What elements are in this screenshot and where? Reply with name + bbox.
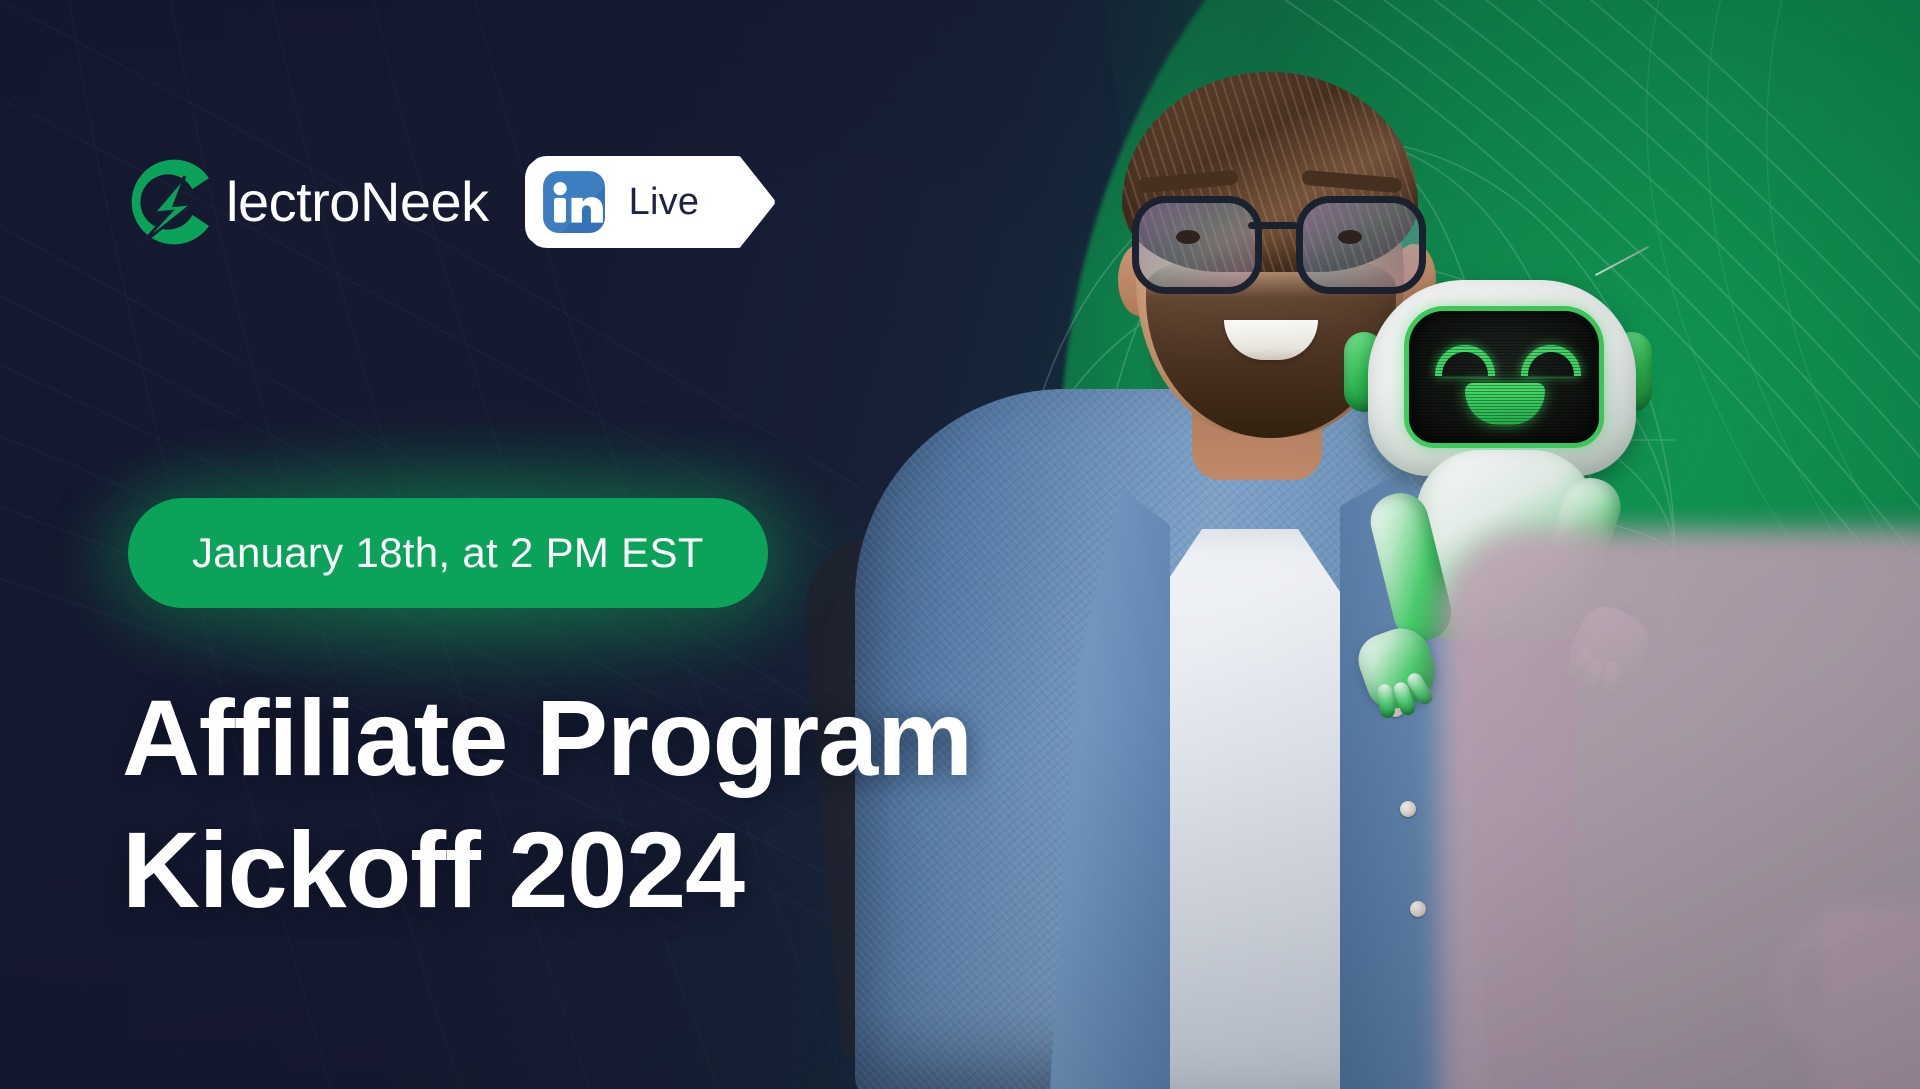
logo-row: lectroNeek Live [128,156,775,248]
electroneek-logo[interactable]: lectroNeek [128,156,489,248]
banner-content: lectroNeek Live January 18th, at 2 PM ES… [0,0,1920,1089]
headline: Affiliate Program Kickoff 2024 [122,672,1302,936]
headline-line-2: Kickoff 2024 [122,804,1302,936]
linkedin-in-icon [541,169,607,235]
promo-banner: lectroNeek Live January 18th, at 2 PM ES… [0,0,1920,1089]
event-date-pill[interactable]: January 18th, at 2 PM EST [128,498,768,608]
live-label: Live [629,183,700,221]
electroneek-bolt-logo-icon [128,156,220,248]
headline-line-1: Affiliate Program [122,672,1302,804]
event-date-text: January 18th, at 2 PM EST [192,532,704,574]
electroneek-wordmark: lectroNeek [226,174,489,230]
linkedin-live-badge[interactable]: Live [525,156,775,248]
